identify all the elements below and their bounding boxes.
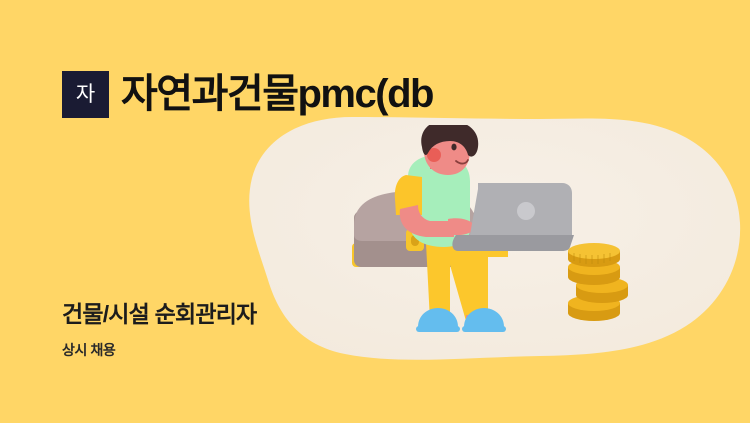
header: 자 자연과건물pmc(db [62, 66, 750, 122]
job-title: 건물/시설 순회관리자 [62, 300, 392, 330]
shoe-right [462, 308, 506, 332]
shoe-left [416, 308, 460, 332]
laptop-icon [452, 183, 574, 251]
company-title: 자연과건물pmc(db [121, 73, 433, 115]
job-info-block: 건물/시설 순회관리자 상시 채용 [62, 300, 392, 360]
job-posting-card: 자 자연과건물pmc(db [0, 0, 750, 423]
job-subtitle: 상시 채용 [62, 340, 392, 360]
person-figure [395, 125, 508, 332]
briefcase-icon [352, 176, 478, 267]
company-logo-badge[interactable]: 자 [62, 71, 109, 118]
coin-stack-icon [568, 243, 628, 321]
